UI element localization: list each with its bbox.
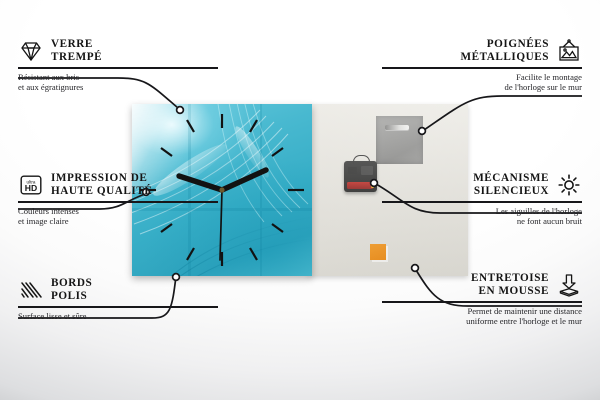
feature-title: VERRETREMPÉ bbox=[51, 38, 102, 63]
hanger-slot bbox=[385, 125, 409, 130]
feature-divider bbox=[382, 301, 582, 303]
feature-caption: Permet de maintenir une distance uniform… bbox=[382, 306, 582, 327]
hour-hand bbox=[222, 170, 266, 190]
feature-impression-haute-qualite: ultra HD IMPRESSION DEHAUTE QUALITÉ Coul… bbox=[18, 172, 218, 226]
feature-header: BORDSPOLIS bbox=[18, 277, 218, 303]
feature-caption: Couleurs intenses et image claire bbox=[18, 206, 218, 227]
feature-title: IMPRESSION DEHAUTE QUALITÉ bbox=[51, 172, 152, 197]
feature-verre-trempe: VERRETREMPÉ Résistant aux bris et aux ég… bbox=[18, 38, 218, 92]
feature-divider bbox=[18, 201, 218, 203]
feature-caption: Les aiguilles de l'horloge ne font aucun… bbox=[382, 206, 582, 227]
mechanism-panel-left bbox=[348, 167, 357, 174]
polished-edges-icon bbox=[18, 277, 44, 303]
wall-mount-frame-icon bbox=[556, 38, 582, 64]
clock-mechanism-box bbox=[344, 161, 377, 192]
foam-spacer bbox=[370, 244, 386, 260]
feature-divider bbox=[18, 306, 218, 308]
feature-title: ENTRETOISEEN MOUSSE bbox=[471, 272, 549, 297]
feature-mecanisme-silencieux: MÉCANISMESILENCIEUX Les aiguilles de l'h… bbox=[382, 172, 582, 226]
feature-divider bbox=[382, 201, 582, 203]
infographic-canvas: VERRETREMPÉ Résistant aux bris et aux ég… bbox=[0, 0, 600, 400]
metallic-hanger-plate bbox=[376, 116, 423, 164]
feature-header: POIGNÉESMÉTALLIQUES bbox=[382, 38, 582, 64]
feature-title: POIGNÉESMÉTALLIQUES bbox=[460, 38, 549, 63]
diamond-icon bbox=[18, 38, 44, 64]
feature-header: ENTRETOISEEN MOUSSE bbox=[382, 272, 582, 298]
hands-center-cap bbox=[219, 187, 224, 192]
ultra-hd-big-label: HD bbox=[25, 183, 37, 193]
feature-caption: Facilite le montage de l'horloge sur le … bbox=[382, 72, 582, 93]
mechanism-hanging-loop bbox=[353, 155, 370, 164]
feature-entretoise-en-mousse: ENTRETOISEEN MOUSSE Permet de maintenir … bbox=[382, 272, 582, 326]
foam-spacer-arrow-icon bbox=[556, 272, 582, 298]
feature-title: MÉCANISMESILENCIEUX bbox=[473, 172, 549, 197]
gear-icon bbox=[556, 172, 582, 198]
feature-bords-polis: BORDSPOLIS Surface lisse et sûre bbox=[18, 277, 218, 321]
feature-header: MÉCANISMESILENCIEUX bbox=[382, 172, 582, 198]
second-hand bbox=[220, 190, 222, 260]
feature-divider bbox=[382, 67, 582, 69]
feature-caption: Résistant aux bris et aux égratignures bbox=[18, 72, 218, 93]
ultra-hd-icon: ultra HD bbox=[18, 172, 44, 198]
feature-header: ultra HD IMPRESSION DEHAUTE QUALITÉ bbox=[18, 172, 218, 198]
mechanism-panel-right bbox=[361, 166, 373, 175]
feature-divider bbox=[18, 67, 218, 69]
feature-poignees-metalliques: POIGNÉESMÉTALLIQUES Facilite le montage … bbox=[382, 38, 582, 92]
feature-header: VERRETREMPÉ bbox=[18, 38, 218, 64]
feature-title: BORDSPOLIS bbox=[51, 277, 92, 302]
feature-caption: Surface lisse et sûre bbox=[18, 311, 218, 321]
battery bbox=[347, 182, 373, 189]
